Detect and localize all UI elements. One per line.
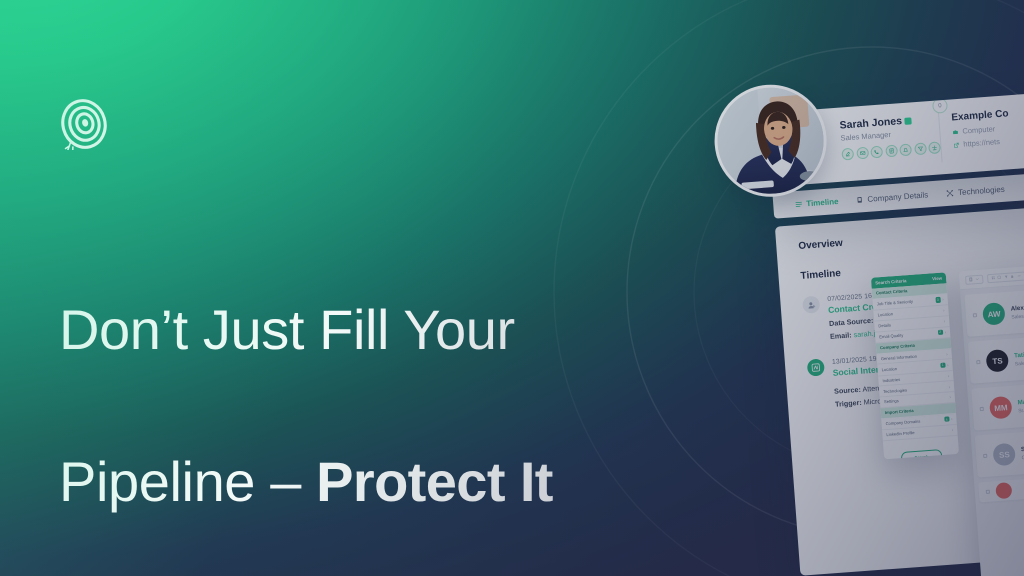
- slide-canvas: Don’t Just Fill Your Pipeline – Protect …: [0, 0, 1024, 576]
- chevron-right-icon: ›: [942, 297, 944, 302]
- chevron-right-icon: ›: [945, 330, 947, 335]
- more-icon[interactable]: [1017, 274, 1021, 278]
- chevron-right-icon: ›: [949, 395, 951, 400]
- linkedin-badge-icon[interactable]: [905, 117, 912, 124]
- contact-role: Sales mana: [1015, 359, 1024, 367]
- row-checkbox[interactable]: [976, 360, 980, 364]
- company-name: Example Co: [951, 100, 1024, 124]
- company-website: https://nets: [963, 137, 1000, 149]
- row-checkbox[interactable]: [973, 313, 977, 317]
- tab-label: Company Details: [867, 190, 928, 203]
- contact-name: Tatiana Sa: [1014, 350, 1024, 359]
- external-link-icon: [953, 141, 959, 147]
- email-icon[interactable]: [856, 147, 869, 160]
- tab-company-details[interactable]: Company Details: [856, 190, 928, 204]
- chevron-right-icon: ›: [947, 362, 949, 367]
- contact-name: Alexis Wag: [1010, 303, 1024, 312]
- checkbox-icon[interactable]: [969, 278, 973, 282]
- row-checkbox[interactable]: [980, 407, 984, 411]
- headline-line-1: Don’t Just Fill Your: [59, 298, 515, 361]
- briefcase-icon: [952, 128, 958, 134]
- avatar: MM: [989, 396, 1013, 420]
- page-title: Don’t Just Fill Your Pipeline – Protect …: [59, 216, 679, 521]
- contact-role: Sales mana: [1011, 312, 1024, 320]
- criteria-badge: 1: [940, 362, 945, 368]
- search-criteria-view-link[interactable]: View: [932, 276, 942, 282]
- alert-icon[interactable]: [899, 143, 912, 156]
- chevron-down-icon[interactable]: [975, 277, 979, 281]
- lock-icon[interactable]: [1010, 274, 1014, 278]
- nodes-icon: [946, 189, 954, 197]
- bulk-actions-group[interactable]: [987, 271, 1024, 283]
- person-add-icon: [802, 296, 820, 314]
- chevron-right-icon: ›: [951, 416, 953, 421]
- criteria-badge: 3: [935, 297, 940, 303]
- chevron-right-icon: ›: [943, 308, 945, 313]
- row-checkbox[interactable]: [983, 454, 987, 458]
- timeline-detail-key: Data Source:: [829, 316, 874, 328]
- list-icon: [795, 200, 802, 207]
- avatar: AW: [982, 302, 1006, 326]
- filter-icon[interactable]: [1004, 275, 1008, 279]
- chevron-right-icon: ›: [946, 351, 948, 356]
- tab-label: Technologies: [958, 184, 1005, 196]
- criteria-badge: 4: [944, 416, 949, 422]
- spiral-target-logo: [58, 98, 110, 150]
- headline-line-2-bold: Protect It: [316, 450, 553, 513]
- grid-icon[interactable]: [991, 276, 995, 280]
- chevron-right-icon: ›: [949, 384, 951, 389]
- building-icon: [856, 196, 863, 203]
- criteria-badge: 2: [937, 330, 942, 336]
- timeline-detail-key: Email:: [830, 330, 852, 341]
- phone-icon[interactable]: [870, 146, 883, 159]
- contact-action-icons: [841, 141, 941, 160]
- notes-icon[interactable]: [885, 145, 898, 158]
- timeline-detail-key: Source:: [834, 385, 861, 396]
- intent-icon: [807, 358, 825, 376]
- avatar: [995, 482, 1012, 499]
- avatar: SS: [993, 443, 1017, 467]
- chevron-right-icon: ›: [948, 373, 950, 378]
- save-icon[interactable]: [997, 275, 1001, 279]
- chevron-right-icon: ›: [952, 427, 954, 432]
- avatar: [711, 81, 831, 201]
- score-badge: 0: [932, 98, 948, 114]
- company-industry: Computer: [962, 124, 996, 135]
- headline-line-2-regular: Pipeline –: [59, 450, 316, 513]
- tab-timeline[interactable]: Timeline: [795, 196, 839, 208]
- search-criteria-title: Search Criteria: [875, 278, 907, 285]
- timeline-detail-key: Trigger:: [835, 398, 862, 409]
- chevron-right-icon: ›: [944, 319, 946, 324]
- contact-name: Matthew M: [1017, 397, 1024, 406]
- contact-role: Sr. sales co: [1018, 406, 1024, 414]
- filter-icon[interactable]: [914, 142, 927, 155]
- tab-technologies[interactable]: Technologies: [946, 184, 1005, 197]
- export-icon[interactable]: [928, 141, 941, 154]
- tab-label: Timeline: [806, 196, 839, 207]
- edit-icon[interactable]: [841, 148, 854, 161]
- select-all-control[interactable]: [965, 274, 984, 284]
- search-criteria-panel: Search Criteria View Contact Criteria Jo…: [871, 272, 959, 459]
- overview-heading: Overview: [798, 216, 1024, 252]
- product-screenshot-mockup: Overview Timeline 07/02/20: [717, 61, 1024, 576]
- avatar: TS: [986, 349, 1010, 373]
- row-checkbox[interactable]: [986, 490, 990, 494]
